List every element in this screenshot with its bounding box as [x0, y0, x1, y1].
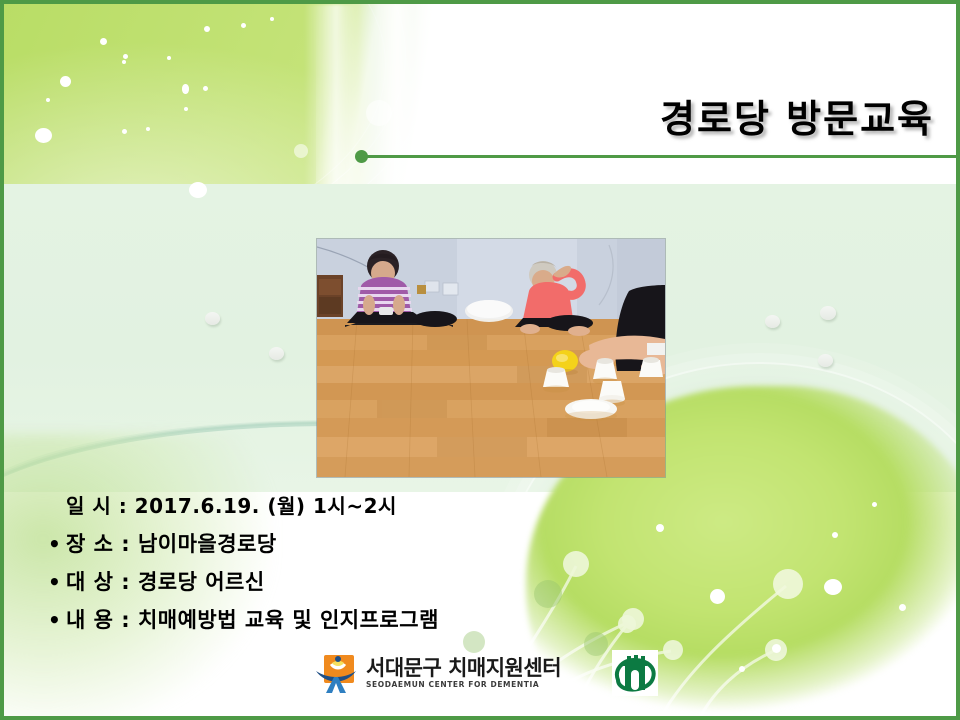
bullet-icon: • — [48, 601, 66, 639]
decorative-dot — [100, 38, 107, 45]
decorative-dot — [710, 589, 725, 604]
person-mark-icon — [314, 653, 358, 693]
detail-line-text: 대 상 : 경로당 어르신 — [66, 570, 265, 594]
decorative-pill — [269, 347, 284, 360]
decorative-dot — [189, 182, 207, 198]
decorative-dot — [203, 86, 208, 91]
decorative-swirl-arc — [0, 0, 386, 256]
logo-name-ko: 서대문구 치매지원센터 — [366, 657, 561, 680]
decorative-pill — [818, 354, 833, 367]
decorative-pill — [820, 306, 836, 320]
decorative-dot — [270, 17, 274, 21]
bullet-icon: • — [48, 525, 66, 563]
logo-name-en: SEODAEMUN CENTER FOR DEMENTIA — [366, 680, 561, 690]
decorative-swirl-arc — [0, 0, 406, 266]
decorative-dot — [824, 579, 842, 595]
organization-logo: 서대문구 치매지원센터 SEODAEMUN CENTER FOR DEMENTI… — [314, 649, 561, 697]
decorative-dot — [899, 604, 906, 611]
decorative-pill — [765, 315, 780, 328]
decorative-dot — [656, 524, 664, 532]
decorative-dot — [739, 666, 745, 672]
decorative-dot — [46, 98, 50, 102]
independence-gate-icon — [612, 650, 658, 696]
detail-line-text: 일 시 : 2017.6.19. (월) 1시~2시 — [66, 494, 397, 518]
decorative-dot — [832, 532, 838, 538]
activity-photo — [317, 239, 665, 477]
decorative-pill — [205, 312, 220, 325]
detail-line: •장 소 : 남이마을경로당 — [48, 525, 648, 563]
decorative-dot — [182, 84, 189, 94]
title-rule — [364, 155, 956, 158]
details-list: 일 시 : 2017.6.19. (월) 1시~2시 •장 소 : 남이마을경로… — [48, 487, 648, 639]
detail-line: 일 시 : 2017.6.19. (월) 1시~2시 — [48, 487, 648, 525]
decorative-dot — [204, 26, 210, 32]
decorative-dot — [123, 54, 128, 59]
decorative-dot — [872, 502, 877, 507]
detail-line-text: 장 소 : 남이마을경로당 — [66, 532, 277, 556]
decorative-dot — [146, 127, 150, 131]
bullet-icon: • — [48, 563, 66, 601]
decorative-dot — [772, 644, 781, 653]
decorative-dot — [35, 128, 52, 143]
decorative-dot — [184, 107, 188, 111]
decorative-dot — [167, 56, 171, 60]
decorative-dot — [122, 60, 126, 64]
activity-photo-image — [317, 239, 665, 477]
decorative-dot — [366, 100, 392, 126]
decorative-light-streaks — [304, 4, 484, 204]
detail-line: •대 상 : 경로당 어르신 — [48, 563, 648, 601]
detail-line: •내 용 : 치매예방법 교육 및 인지프로그램 — [48, 601, 648, 639]
page-title: 경로당 방문교육 — [660, 88, 934, 143]
detail-line-text: 내 용 : 치매예방법 교육 및 인지프로그램 — [66, 608, 439, 632]
decorative-dot — [241, 23, 246, 28]
decorative-dot — [60, 76, 71, 87]
decorative-dot — [122, 129, 127, 134]
decorative-dot — [294, 144, 308, 158]
slide: 경로당 방문교육 — [0, 0, 960, 720]
logo-wordmark: 서대문구 치매지원센터 SEODAEMUN CENTER FOR DEMENTI… — [366, 657, 561, 690]
